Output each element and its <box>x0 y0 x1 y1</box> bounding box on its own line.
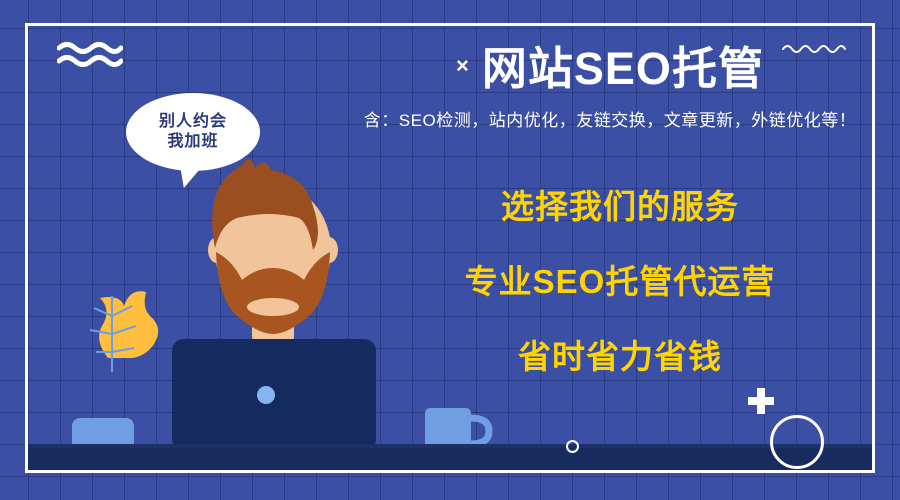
speech-bubble-line-2: 我加班 <box>167 132 218 152</box>
mouth-shape <box>247 298 299 316</box>
neck-shape <box>252 290 294 352</box>
face-shape <box>215 184 331 316</box>
beard-shape <box>216 252 330 334</box>
plus-icon <box>748 388 774 414</box>
hair-shape <box>212 159 318 250</box>
headline-block: ×网站SEO托管 含：SEO检测，站内优化，友链交换，文章更新，外链优化等！ <box>330 44 890 131</box>
speech-bubble: 别人约会 我加班 <box>126 93 260 171</box>
wave-lines-icon <box>57 41 123 67</box>
plant-illustration <box>72 291 158 450</box>
page-title: ×网站SEO托管 <box>330 44 890 94</box>
shirt-shape <box>175 372 371 450</box>
slogan-line-1: 选择我们的服务 <box>380 190 860 223</box>
small-circle-icon <box>566 440 579 453</box>
slogan-line-3: 省时省力省钱 <box>380 340 860 373</box>
x-mark-icon: × <box>456 53 470 78</box>
seo-promo-banner: 别人约会 我加班 ×网站SEO托管 含：SEO检测，站内优化，友链交换，文章更新… <box>0 0 900 500</box>
desk-surface <box>28 448 872 472</box>
page-title-text: 网站SEO托管 <box>482 43 764 94</box>
laptop-shape <box>172 339 376 451</box>
laptop-logo-icon <box>257 386 275 404</box>
slogan-line-2: 专业SEO托管代运营 <box>380 265 860 298</box>
speech-bubble-line-1: 别人约会 <box>159 112 227 132</box>
page-subtitle: 含：SEO检测，站内优化，友链交换，文章更新，外链优化等！ <box>330 106 890 131</box>
slogan-block: 选择我们的服务 专业SEO托管代运营 省时省力省钱 <box>380 190 860 373</box>
